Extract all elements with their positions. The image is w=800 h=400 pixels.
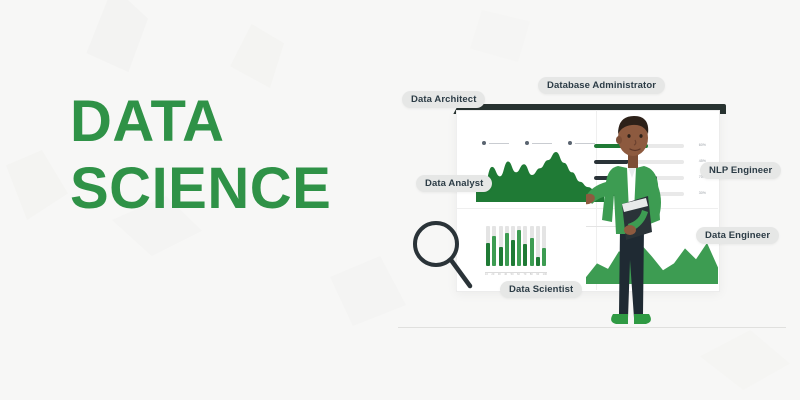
bar-fill: [530, 238, 534, 266]
bar-tick-label: 70: [523, 273, 526, 276]
bar-track: [486, 226, 490, 266]
bar-fill: [523, 244, 527, 266]
vertical-bar-chart: [485, 226, 547, 274]
top-area-chart: [476, 148, 604, 202]
bar-track: [511, 226, 515, 266]
legend-dot-icon: [525, 141, 529, 145]
bar-track: [523, 226, 527, 266]
legend-item: [482, 141, 509, 145]
bar-fill: [511, 240, 515, 266]
bar-fill: [536, 257, 540, 266]
bar-track: [530, 226, 534, 266]
bar-chart-tick-labels: 102030405060708090100: [485, 273, 547, 276]
role-tag-data-analyst[interactable]: Data Analyst: [416, 175, 492, 192]
legend-line-icon: [489, 143, 509, 144]
legend-dot-icon: [568, 141, 572, 145]
bar-fill: [542, 248, 546, 266]
bar-fill: [486, 243, 490, 266]
bar-tick-label: 80: [530, 273, 533, 276]
bar-tick-label: 40: [504, 273, 507, 276]
bar-track: [517, 226, 521, 266]
page-title: DATA SCIENCE: [70, 92, 390, 218]
bar-fill: [492, 236, 496, 266]
role-tag-data-architect[interactable]: Data Architect: [402, 91, 485, 108]
background-shape: [6, 150, 68, 220]
bar-track: [542, 226, 546, 266]
chart-legend: [482, 141, 595, 145]
title-line-2: SCIENCE: [70, 159, 390, 218]
progress-value-label: 60%: [684, 144, 706, 148]
bar-fill: [499, 247, 503, 266]
magnifying-glass-icon: [410, 218, 474, 292]
role-tag-nlp-engineer[interactable]: NLP Engineer: [700, 162, 781, 179]
background-shape: [470, 10, 530, 62]
illustration: 60%45%70%30% 102030405060708090100: [390, 60, 790, 350]
presenter-figure: [586, 108, 676, 336]
poster-canvas: DATA SCIENCE 60%45%70%30% 1020304: [0, 0, 800, 400]
background-shape: [230, 24, 284, 88]
bar-track: [505, 226, 509, 266]
legend-item: [525, 141, 552, 145]
bar-tick-label: 50: [511, 273, 514, 276]
bar-tick-label: 10: [485, 273, 488, 276]
role-tag-data-engineer[interactable]: Data Engineer: [696, 227, 779, 244]
title-line-1: DATA: [70, 92, 390, 151]
role-tag-data-scientist[interactable]: Data Scientist: [500, 281, 582, 298]
bar-tick-label: 20: [491, 273, 494, 276]
bar-tick-label: 100: [543, 273, 547, 276]
role-tag-database-administrator[interactable]: Database Administrator: [538, 77, 665, 94]
legend-line-icon: [532, 143, 552, 144]
bar-track: [536, 226, 540, 266]
legend-dot-icon: [482, 141, 486, 145]
bar-tick-label: 60: [517, 273, 520, 276]
bar-track: [499, 226, 503, 266]
bar-tick-label: 30: [498, 273, 501, 276]
bar-track: [492, 226, 496, 266]
bar-fill: [505, 233, 509, 266]
progress-value-label: 30%: [684, 192, 706, 196]
bar-fill: [517, 230, 521, 266]
background-shape: [78, 0, 148, 72]
bar-tick-label: 90: [536, 273, 539, 276]
ground-line: [398, 327, 786, 328]
